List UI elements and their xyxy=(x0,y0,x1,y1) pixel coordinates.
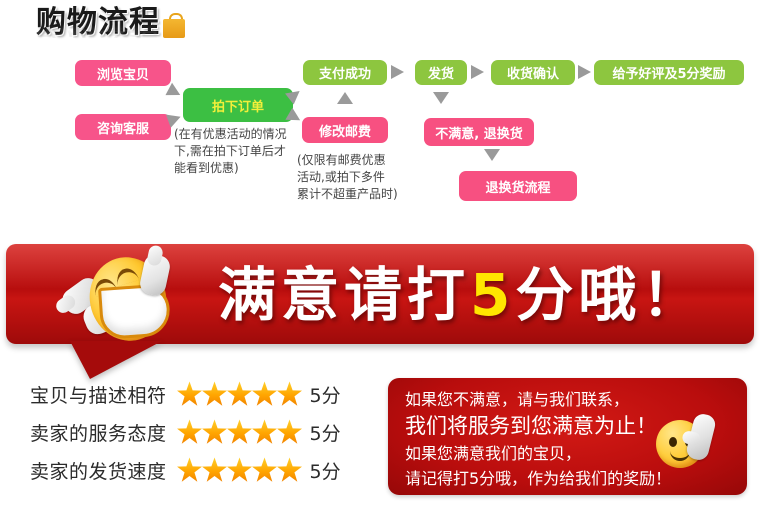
rating-label: 卖家的服务态度 xyxy=(30,419,167,446)
flow-node-paid: 支付成功 xyxy=(303,60,387,85)
rating-score: 5分 xyxy=(310,381,341,408)
rating-stars xyxy=(177,419,302,445)
rating-row: 卖家的发货速度5分 xyxy=(30,451,375,489)
rating-label: 卖家的发货速度 xyxy=(30,457,167,484)
shopping-flow-diagram: 浏览宝贝咨询客服拍下订单修改邮费支付成功发货收货确认给予好评及5分奖励不满意, … xyxy=(0,52,760,222)
flow-arrow-ship-to-confirm xyxy=(471,65,484,79)
star-icon xyxy=(277,381,303,407)
star-icon xyxy=(252,381,278,407)
flow-node-browse: 浏览宝贝 xyxy=(75,60,171,86)
rating-row: 宝贝与描述相符5分 xyxy=(30,375,375,413)
banner-text-after: 分哦！ xyxy=(515,261,704,329)
star-icon xyxy=(277,457,303,483)
flow-note-order-note: (在有优惠活动的情况 下,需在拍下订单后才 能看到优惠) xyxy=(174,126,287,177)
flow-arrow-paid-to-ship xyxy=(391,65,404,79)
page-root: 购物流程 购物流程 浏览宝贝咨询客服拍下订单修改邮费支付成功发货收货确认给予好评… xyxy=(0,0,760,517)
star-icon xyxy=(227,419,253,445)
rating-label: 宝贝与描述相符 xyxy=(30,381,167,408)
flow-node-consult: 咨询客服 xyxy=(75,114,171,140)
star-icon xyxy=(227,457,253,483)
rating-score: 5分 xyxy=(310,457,341,484)
flow-node-reward: 给予好评及5分奖励 xyxy=(594,60,744,85)
rating-score: 5分 xyxy=(310,419,341,446)
flow-arrow-ship-to-unhappy xyxy=(433,92,449,104)
shopping-bag-icon xyxy=(163,12,185,38)
flow-node-order: 拍下订单 xyxy=(183,88,293,122)
service-note-line: 请记得打5分哦，作为给我们的奖励！ xyxy=(405,466,671,491)
flow-node-confirm: 收货确认 xyxy=(491,60,575,85)
flow-arrow-confirm-to-reward xyxy=(578,65,591,79)
service-note-line: 如果您不满意，请与我们联系， xyxy=(405,387,671,412)
star-icon xyxy=(252,457,278,483)
star-icon xyxy=(202,419,228,445)
star-icon xyxy=(227,381,253,407)
service-note-line: 我们将服务到您满意为止！ xyxy=(405,412,671,441)
star-icon xyxy=(252,419,278,445)
smiley-thumb-up-icon xyxy=(656,414,724,470)
star-icon xyxy=(177,419,203,445)
banner-text-before: 满意请打 xyxy=(218,261,470,329)
banner-headline: 满意请打5分哦！ xyxy=(218,254,704,336)
page-title: 购物流程 购物流程 xyxy=(36,6,185,40)
rating-stars xyxy=(177,381,302,407)
star-icon xyxy=(202,457,228,483)
laughing-face-thumbs-up-icon xyxy=(60,253,176,345)
star-icon xyxy=(202,381,228,407)
rating-stars xyxy=(177,457,302,483)
flow-node-modfee: 修改邮费 xyxy=(302,117,388,143)
flow-arrow-browse-to-order xyxy=(165,83,183,101)
flow-note-modfee-note: (仅限有邮费优惠 活动,或拍下多件 累计不超重产品时) xyxy=(297,152,398,203)
rating-row: 卖家的服务态度5分 xyxy=(30,413,375,451)
ratings-list: 宝贝与描述相符5分卖家的服务态度5分卖家的发货速度5分 xyxy=(30,375,375,489)
flow-arrow-modfee-to-paid xyxy=(337,92,353,104)
flow-node-ship: 发货 xyxy=(415,60,467,85)
star-icon xyxy=(277,419,303,445)
flow-arrow-unhappy-to-return xyxy=(484,149,500,161)
banner-tail xyxy=(70,341,162,379)
star-icon xyxy=(177,381,203,407)
star-icon xyxy=(177,457,203,483)
flow-node-returnfl: 退换货流程 xyxy=(459,171,577,201)
flow-node-unhappy: 不满意, 退换货 xyxy=(424,118,534,146)
service-note-lines: 如果您不满意，请与我们联系，我们将服务到您满意为止！如果您满意我们的宝贝，请记得… xyxy=(405,387,671,491)
service-note-line: 如果您满意我们的宝贝， xyxy=(405,441,671,466)
page-title-text: 购物流程 xyxy=(36,6,160,40)
service-note-box: 如果您不满意，请与我们联系，我们将服务到您满意为止！如果您满意我们的宝贝，请记得… xyxy=(388,378,747,495)
banner-text-highlight: 5 xyxy=(470,261,515,329)
